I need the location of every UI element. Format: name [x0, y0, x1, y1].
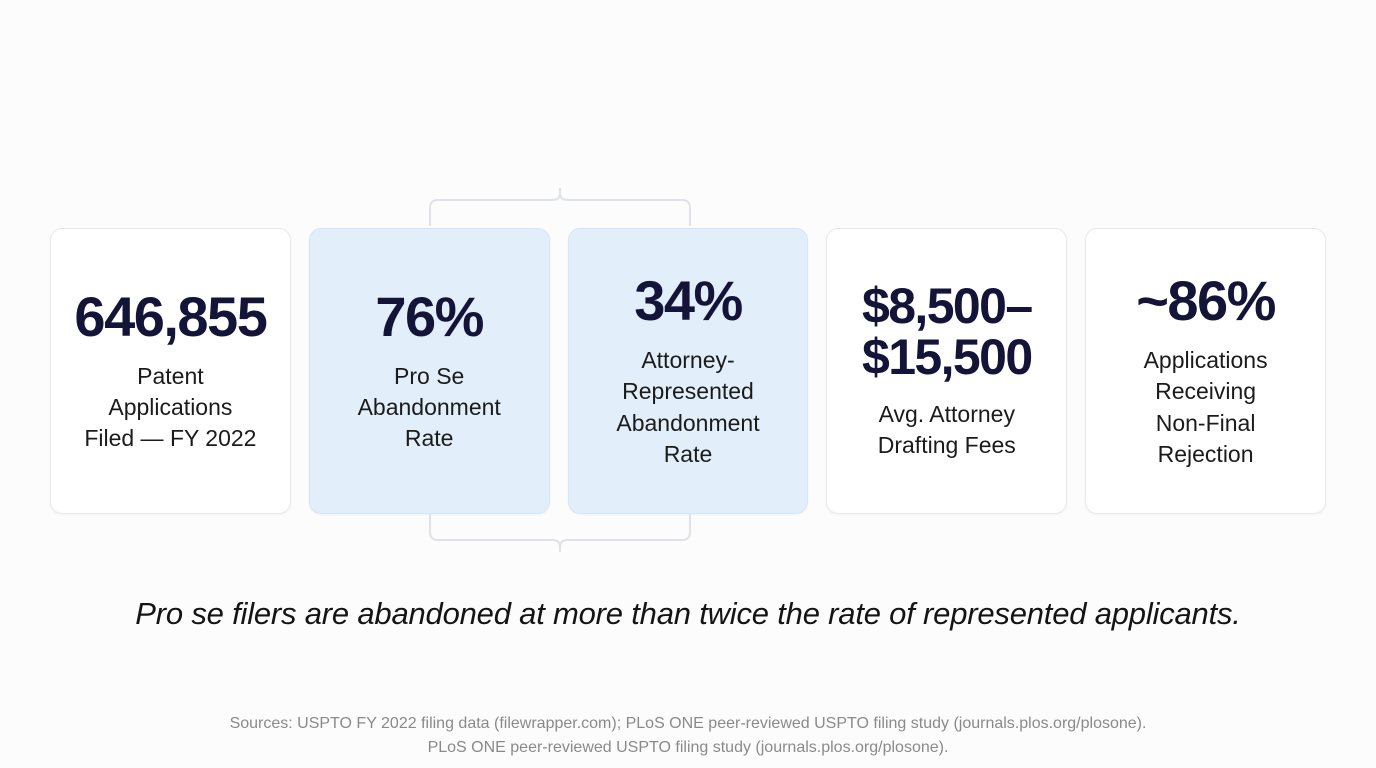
sources-line-2: PLoS ONE peer-reviewed USPTO filing stud…	[0, 736, 1376, 760]
comparison-brace-top	[424, 188, 696, 226]
infographic-canvas: 646,855 Patent Applications Filed — FY 2…	[0, 0, 1376, 768]
stat-value: $8,500– $15,500	[862, 281, 1032, 383]
stat-value: 646,855	[74, 288, 266, 345]
stat-card-row: 646,855 Patent Applications Filed — FY 2…	[50, 228, 1326, 514]
stat-card-attorney-abandonment[interactable]: 34% Attorney- Represented Abandonment Ra…	[568, 228, 809, 514]
stat-label: Applications Receiving Non-Final Rejecti…	[1144, 345, 1268, 470]
sources-line-1: Sources: USPTO FY 2022 filing data (file…	[0, 712, 1376, 736]
takeaway-caption: Pro se filers are abandoned at more than…	[0, 596, 1376, 632]
stat-label: Avg. Attorney Drafting Fees	[878, 399, 1016, 462]
stat-label: Pro Se Abandonment Rate	[358, 361, 501, 455]
stat-value: 76%	[375, 288, 483, 345]
comparison-brace-bottom	[424, 514, 696, 552]
stat-value: 34%	[634, 272, 742, 329]
stat-label: Attorney- Represented Abandonment Rate	[616, 345, 759, 470]
sources-footnote: Sources: USPTO FY 2022 filing data (file…	[0, 712, 1376, 760]
stat-value: ~86%	[1136, 272, 1275, 329]
stat-card-patent-applications[interactable]: 646,855 Patent Applications Filed — FY 2…	[50, 228, 291, 514]
stat-card-pro-se-abandonment[interactable]: 76% Pro Se Abandonment Rate	[309, 228, 550, 514]
stat-label: Patent Applications Filed — FY 2022	[84, 361, 256, 455]
stat-card-non-final-rejection[interactable]: ~86% Applications Receiving Non-Final Re…	[1085, 228, 1326, 514]
stat-card-attorney-fees[interactable]: $8,500– $15,500 Avg. Attorney Drafting F…	[826, 228, 1067, 514]
